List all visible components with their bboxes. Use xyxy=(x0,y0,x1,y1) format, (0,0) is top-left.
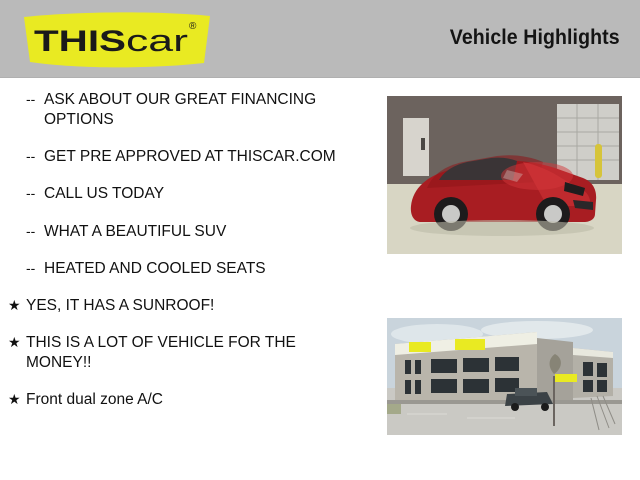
list-item-label: GET PRE APPROVED AT THISCAR.COM xyxy=(44,147,336,167)
list-item-bullet: -- xyxy=(26,222,44,241)
list-item: -- GET PRE APPROVED AT THISCAR.COM xyxy=(0,147,380,167)
list-item-bullet: -- xyxy=(26,184,44,203)
star-icon: ★ xyxy=(8,390,26,409)
list-item-label: ASK ABOUT OUR GREAT FINANCING OPTIONS xyxy=(44,90,380,130)
dealership-photo[interactable] xyxy=(387,318,622,435)
thiscar-logo[interactable]: THIS car ® xyxy=(22,11,212,69)
list-item: -- WHAT A BEAUTIFUL SUV xyxy=(0,222,380,242)
svg-text:car: car xyxy=(126,23,188,58)
page-title: Vehicle Highlights xyxy=(450,26,620,50)
list-item: ★ Front dual zone A/C xyxy=(0,390,380,410)
content-area: -- ASK ABOUT OUR GREAT FINANCING OPTIONS… xyxy=(0,78,640,480)
list-item: ★ THIS IS A LOT OF VEHICLE FOR THE MONEY… xyxy=(0,333,380,373)
list-item-label: YES, IT HAS A SUNROOF! xyxy=(26,296,214,316)
list-item: -- HEATED AND COOLED SEATS xyxy=(0,259,380,279)
list-item-bullet: -- xyxy=(26,259,44,278)
list-item-label: CALL US TODAY xyxy=(44,184,164,204)
star-icon: ★ xyxy=(8,333,26,352)
list-item: -- CALL US TODAY xyxy=(0,184,380,204)
list-item-bullet: -- xyxy=(26,147,44,166)
list-item-label: Front dual zone A/C xyxy=(26,390,163,410)
list-item-label: THIS IS A LOT OF VEHICLE FOR THE MONEY!! xyxy=(26,333,362,373)
list-item: ★ YES, IT HAS A SUNROOF! xyxy=(0,296,380,316)
list-item-bullet: -- xyxy=(26,90,44,109)
svg-text:THIS: THIS xyxy=(34,25,126,58)
star-icon: ★ xyxy=(8,296,26,315)
list-item-label: HEATED AND COOLED SEATS xyxy=(44,259,266,279)
list-item-label: WHAT A BEAUTIFUL SUV xyxy=(44,222,226,242)
list-item: -- ASK ABOUT OUR GREAT FINANCING OPTIONS xyxy=(0,90,380,130)
vehicle-highlights-list: -- ASK ABOUT OUR GREAT FINANCING OPTIONS… xyxy=(0,78,380,427)
page-header: THIS car ® Vehicle Highlights xyxy=(0,0,640,78)
vehicle-photo[interactable] xyxy=(387,96,622,254)
svg-text:®: ® xyxy=(189,21,197,32)
